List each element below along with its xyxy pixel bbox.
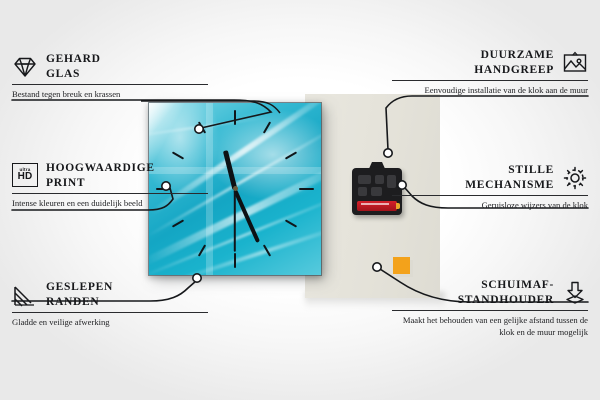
feature-description: Gladde en veilige afwerking <box>12 317 208 329</box>
feature-title: STILLEMECHANISME <box>465 163 554 192</box>
leader-endpoint <box>195 125 203 133</box>
feature-description: Geruisloze wijzers van de klok <box>392 200 588 212</box>
diamond-icon <box>12 54 38 80</box>
feature-duurzame-handgreep: DUURZAMEHANDGREEP Eenvoudige installatie… <box>392 48 588 97</box>
feature-title: HOOGWAARDIGEPRINT <box>46 161 155 190</box>
title-divider <box>392 310 588 311</box>
down-arrow-pad-icon <box>562 280 588 306</box>
feature-title: DUURZAMEHANDGREEP <box>474 48 554 77</box>
title-divider <box>12 312 208 313</box>
feature-title: GESLEPENRANDEN <box>46 280 113 309</box>
title-divider <box>12 84 208 85</box>
framed-picture-icon <box>562 50 588 76</box>
title-divider <box>392 195 588 196</box>
feature-description: Bestand tegen breuk en krassen <box>12 89 208 101</box>
title-divider <box>392 80 588 81</box>
title-divider <box>12 193 208 194</box>
ultra-hd-icon: ultra HD <box>12 163 38 189</box>
feature-gehard-glas: GEHARDGLAS Bestand tegen breuk en krasse… <box>12 52 208 101</box>
feature-title: SCHUIMAF-STANDHOUDER <box>458 278 554 307</box>
feature-description: Intense kleuren en een duidelijk beeld <box>12 198 208 210</box>
feature-title: GEHARDGLAS <box>46 52 101 81</box>
feature-description: Eenvoudige installatie van de klok aan d… <box>392 85 588 97</box>
diagonal-lines-icon <box>12 282 38 308</box>
feature-description: Maakt het behouden van een gelijke afsta… <box>392 315 588 338</box>
feature-stille-mechanisme: STILLEMECHANISME Geruisloze wijzers van … <box>392 163 588 212</box>
leader-endpoint <box>384 149 392 157</box>
feature-schuimafstandhouder: SCHUIMAF-STANDHOUDER Maakt het behouden … <box>392 278 588 338</box>
leader-endpoint <box>373 263 381 271</box>
gear-icon <box>562 165 588 191</box>
infographic-canvas: GEHARDGLAS Bestand tegen breuk en krasse… <box>0 0 600 400</box>
feature-hoogwaardige-print: ultra HD HOOGWAARDIGEPRINT Intense kleur… <box>12 161 208 210</box>
feature-geslepen-randen: GESLEPENRANDEN Gladde en veilige afwerki… <box>12 280 208 329</box>
